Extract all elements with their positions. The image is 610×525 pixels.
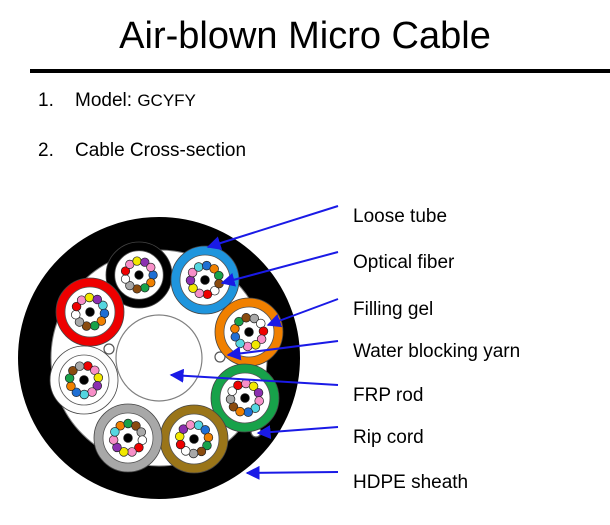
leader-line: [247, 472, 338, 473]
optical-fiber: [186, 276, 195, 285]
optical-fiber: [71, 310, 80, 319]
list-item-cross-section: Cable Cross-section: [75, 140, 246, 162]
tube-gray: [94, 404, 162, 472]
frp-rod: [116, 315, 202, 401]
optical-fiber: [241, 394, 250, 403]
optical-fiber: [236, 407, 245, 416]
optical-fiber: [109, 436, 118, 445]
tube-red: [56, 278, 124, 346]
optical-fiber: [135, 271, 143, 279]
optical-fiber: [203, 290, 212, 299]
optical-fiber: [251, 340, 260, 349]
optical-fiber: [147, 263, 155, 271]
list-item-model: Model: GCYFY: [75, 90, 196, 112]
optical-fiber: [133, 257, 141, 265]
optical-fiber: [259, 327, 268, 336]
optical-fiber: [141, 284, 149, 292]
optical-fiber: [137, 428, 146, 437]
optical-fiber: [110, 427, 119, 436]
optical-fiber: [254, 388, 263, 397]
legend-label-hdpe-sheath: HDPE sheath: [353, 472, 468, 494]
optical-fiber: [242, 313, 251, 322]
tube-brown: [160, 405, 228, 473]
optical-fiber: [121, 275, 129, 283]
optical-fiber: [85, 293, 94, 302]
optical-fiber: [201, 276, 210, 285]
optical-fiber: [88, 388, 97, 397]
list-number-1: 1.: [38, 90, 54, 112]
optical-fiber: [189, 284, 198, 293]
leader-hdpe-sheath: [247, 472, 338, 473]
model-label: Model:: [75, 90, 132, 111]
optical-fiber: [234, 381, 243, 390]
optical-fiber: [149, 271, 157, 279]
tube-white: [50, 346, 118, 414]
legend-label-rip-cord: Rip cord: [353, 427, 424, 449]
optical-fiber: [67, 382, 76, 391]
legend-label-filling-gel: Filling gel: [353, 299, 433, 321]
optical-fiber: [124, 434, 133, 443]
optical-fiber: [93, 295, 102, 304]
optical-fiber: [86, 308, 95, 317]
list-number-2: 2.: [38, 140, 54, 162]
optical-fiber: [197, 447, 206, 456]
page-title: Air-blown Micro Cable: [0, 14, 610, 58]
optical-fiber: [244, 408, 253, 417]
optical-fiber: [215, 279, 224, 288]
optical-fiber: [226, 395, 235, 404]
optical-fiber: [128, 448, 137, 457]
optical-fiber: [190, 435, 199, 444]
optical-fiber: [176, 440, 185, 449]
model-value: GCYFY: [137, 91, 196, 110]
optical-fiber: [194, 263, 203, 272]
rip-cord-0: [104, 344, 114, 354]
title-divider: [30, 69, 610, 73]
optical-fiber: [75, 362, 84, 371]
optical-fiber: [231, 332, 240, 341]
optical-fiber: [80, 376, 89, 385]
optical-fiber: [214, 271, 223, 280]
legend-label-frp-rod: FRP rod: [353, 385, 423, 407]
optical-fiber: [204, 433, 213, 442]
leader-line: [208, 206, 338, 247]
optical-fiber: [90, 321, 99, 330]
tube-orange: [215, 298, 283, 366]
optical-fiber: [186, 421, 195, 430]
optical-fiber: [80, 390, 89, 399]
legend-label-loose-tube: Loose tube: [353, 206, 447, 228]
leader-loose-tube: [208, 206, 338, 247]
legend-label-optical-fiber: Optical fiber: [353, 252, 454, 274]
page-root: Air-blown Micro Cable 1. Model: GCYFY 2.…: [0, 0, 610, 520]
legend-label-water-blocking-yarn: Water blocking yarn: [353, 341, 520, 363]
tube-blue: [171, 246, 239, 314]
optical-fiber: [124, 419, 133, 428]
optical-fiber: [94, 373, 103, 382]
optical-fiber: [245, 328, 254, 337]
